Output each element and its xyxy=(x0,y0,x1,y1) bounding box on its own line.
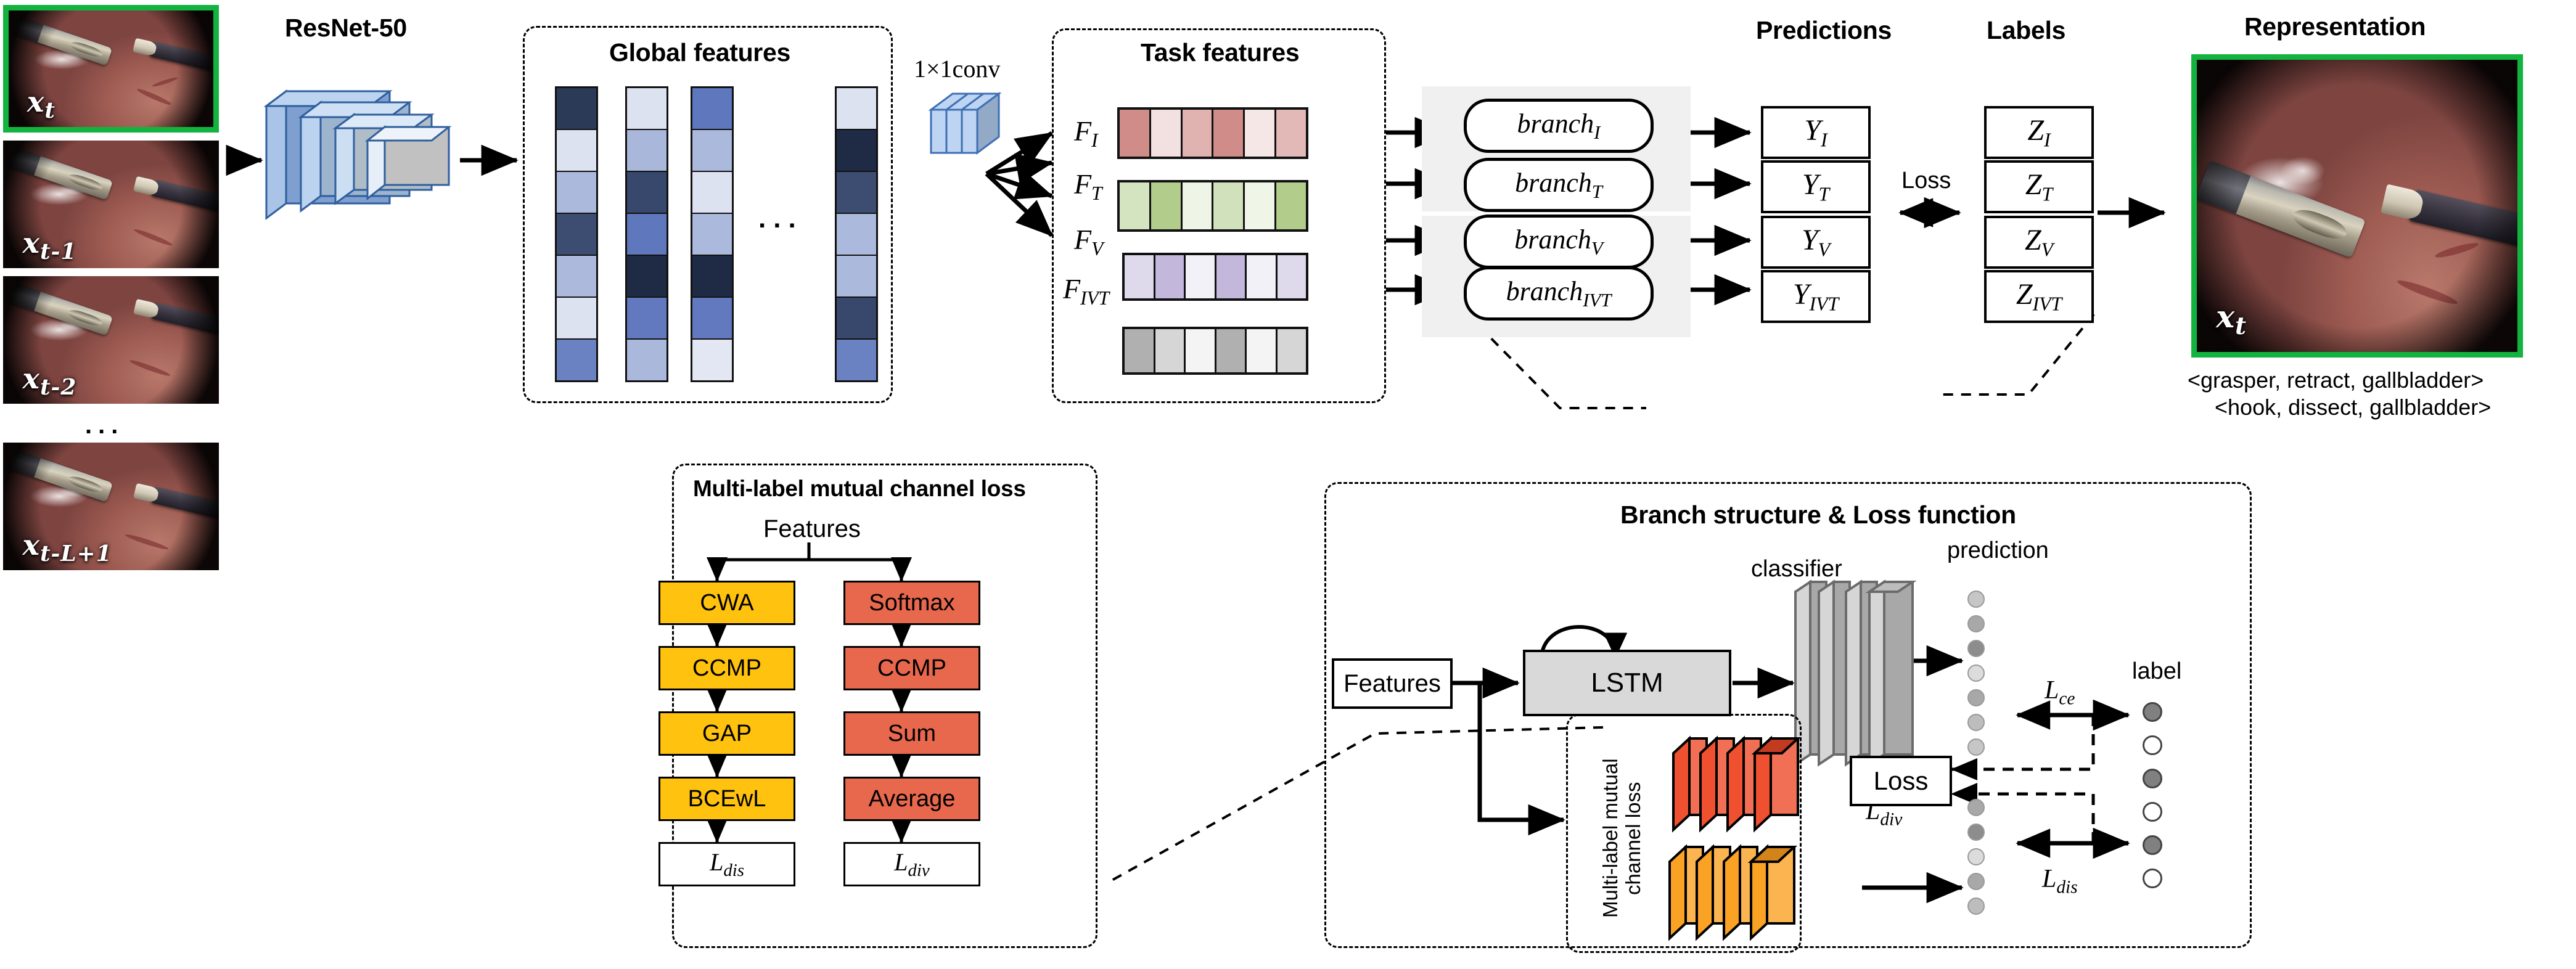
input-frame-xt-2[interactable]: xt-2 xyxy=(3,276,219,404)
input-frame-xt[interactable]: xt xyxy=(3,5,219,133)
task-feature-cell xyxy=(1213,182,1245,229)
mmcl-ldiv-output[interactable]: Ldiv xyxy=(843,842,980,886)
task-feature-cell xyxy=(1125,255,1155,298)
prediction-Y-IVT[interactable]: YIVT xyxy=(1761,270,1871,323)
label-Z-IVT[interactable]: ZIVT xyxy=(1984,270,2094,323)
frames-ellipsis: ... xyxy=(85,412,124,440)
global-feature-cell xyxy=(692,256,732,298)
branch-T[interactable]: branchT xyxy=(1464,158,1654,212)
prediction-dots-column[interactable] xyxy=(1962,587,1990,918)
branch-V[interactable]: branchV xyxy=(1464,215,1654,269)
global-feature-cell xyxy=(557,214,596,256)
prediction-dot xyxy=(1967,591,1985,608)
classifier-label: classifier xyxy=(1751,556,1842,583)
branch-loss-box[interactable]: Loss xyxy=(1850,756,1952,806)
triplet-line-2: <hook, dissect, gallbladder> xyxy=(2215,395,2491,420)
task-feature-cell xyxy=(1155,329,1186,372)
task-feature-cell xyxy=(1216,329,1247,372)
representation-title: Representation xyxy=(2244,12,2426,41)
task-feature-cell xyxy=(1276,110,1306,157)
prediction-dot xyxy=(1967,824,1985,841)
task-feature-cell xyxy=(1125,329,1155,372)
mmcl-average-box[interactable]: Average xyxy=(843,777,980,821)
global-feature-cell xyxy=(557,88,596,130)
representation-frame-label: xt xyxy=(2216,298,2247,340)
label-dot xyxy=(2143,702,2162,722)
label-dot xyxy=(2143,802,2162,822)
prediction-dot xyxy=(1967,714,1985,731)
task-feature-cell xyxy=(1183,110,1214,157)
global-feature-cell xyxy=(557,130,596,172)
task-feature-cell xyxy=(1151,110,1183,157)
global-feature-cell xyxy=(627,130,667,172)
mmcl-ccmp-right-box[interactable]: CCMP xyxy=(843,646,980,690)
mmcl-features-label: Features xyxy=(763,515,861,543)
task-feature-row-V[interactable] xyxy=(1122,253,1308,301)
label-Z-T[interactable]: ZT xyxy=(1984,160,2094,213)
mmcl-ldis-output[interactable]: Ldis xyxy=(658,842,795,886)
label-dots-column[interactable] xyxy=(2138,695,2167,895)
mmcl-gap-box[interactable]: GAP xyxy=(658,711,795,756)
global-feature-cell xyxy=(837,88,876,130)
global-feature-cell xyxy=(557,172,596,214)
task-feature-cell xyxy=(1278,329,1306,372)
task-feature-cell xyxy=(1151,182,1183,229)
task-feature-cell xyxy=(1216,255,1247,298)
global-feature-cell xyxy=(692,298,732,340)
global-features-ellipsis: ... xyxy=(758,203,803,234)
branch-structure-title: Branch structure & Loss function xyxy=(1620,501,2016,529)
task-feature-cell xyxy=(1247,329,1278,372)
mmcl-softmax-box[interactable]: Softmax xyxy=(843,581,980,625)
global-features-title: Global features xyxy=(609,38,790,67)
label-dot xyxy=(2143,769,2162,788)
global-feature-cell xyxy=(627,172,667,214)
label-dot xyxy=(2143,869,2162,888)
prediction-dot xyxy=(1967,897,1985,915)
label-dots-label: label xyxy=(2132,658,2181,685)
global-feature-cell xyxy=(837,130,876,172)
loss-term-lce: Lce xyxy=(2045,676,2075,709)
prediction-dot xyxy=(1967,848,1985,865)
global-feature-cell xyxy=(692,214,732,256)
frame-label: xt-1 xyxy=(23,226,77,264)
task-feature-label-IVT: FIVT xyxy=(1063,272,1109,309)
prediction-Y-I[interactable]: YI xyxy=(1761,106,1871,159)
task-feature-label-V: FV xyxy=(1074,223,1103,260)
task-features-title: Task features xyxy=(1141,38,1299,67)
conv-label: 1×1conv xyxy=(914,54,1000,83)
prediction-dot xyxy=(1967,738,1985,756)
global-feature-cell xyxy=(837,172,876,214)
resnet-slab-4 xyxy=(367,127,449,198)
prediction-dot xyxy=(1967,640,1985,657)
loss-term-ldis: Ldis xyxy=(2042,864,2078,897)
branch-mmcl-vertical-label: Multi-label mutual channel loss xyxy=(1599,746,1645,931)
prediction-Y-T[interactable]: YT xyxy=(1761,160,1871,213)
task-feature-cell xyxy=(1183,182,1214,229)
resnet-slab-2 xyxy=(301,102,409,211)
global-feature-column-2[interactable] xyxy=(625,86,668,382)
global-feature-cell xyxy=(557,298,596,340)
global-feature-column-1[interactable] xyxy=(555,86,598,382)
task-feature-cell xyxy=(1186,255,1216,298)
task-feature-row-I[interactable] xyxy=(1117,107,1308,159)
global-feature-cell xyxy=(627,298,667,340)
predictions-title: Predictions xyxy=(1756,16,1892,45)
task-feature-cell xyxy=(1120,110,1151,157)
task-feature-cell xyxy=(1245,182,1276,229)
branch-I[interactable]: branchI xyxy=(1464,99,1654,153)
global-feature-cell xyxy=(837,298,876,340)
global-feature-column-3[interactable] xyxy=(691,86,734,382)
mmcl-panel-title: Multi-label mutual channel loss xyxy=(693,476,1026,502)
prediction-dot xyxy=(1967,615,1985,632)
branch-features-box[interactable]: Features xyxy=(1332,658,1453,709)
conv-cube-icon xyxy=(931,94,999,153)
resnet-slab-1 xyxy=(266,91,390,218)
representation-frame[interactable]: xt xyxy=(2191,54,2523,358)
prediction-label: prediction xyxy=(1947,538,2049,564)
global-feature-cell xyxy=(837,256,876,298)
task-feature-cell xyxy=(1213,110,1245,157)
frame-label: xt xyxy=(27,85,55,123)
branch-IVT[interactable]: branchIVT xyxy=(1464,266,1654,321)
frame-label: xt-L+1 xyxy=(23,528,112,566)
global-feature-cell xyxy=(627,256,667,298)
global-feature-cell xyxy=(837,340,876,380)
labels-title: Labels xyxy=(1987,16,2065,45)
label-Z-I[interactable]: ZI xyxy=(1984,106,2094,159)
lstm-box[interactable]: LSTM xyxy=(1523,650,1731,716)
global-feature-cell xyxy=(692,172,732,214)
loss-label-main: Loss xyxy=(1901,168,1951,194)
mmcl-ccmp-left-box[interactable]: CCMP xyxy=(658,646,795,690)
mmcl-bcewl-box[interactable]: BCEwL xyxy=(658,777,795,821)
global-feature-cell xyxy=(837,214,876,256)
prediction-dot xyxy=(1967,873,1985,890)
prediction-dot xyxy=(1967,799,1985,816)
input-frame-xt-L1[interactable]: xt-L+1 xyxy=(3,443,219,570)
prediction-dot xyxy=(1967,689,1985,706)
label-dot xyxy=(2143,835,2162,855)
backbone-title: ResNet-50 xyxy=(285,14,407,43)
mmcl-cwa-box[interactable]: CWA xyxy=(658,581,795,625)
global-feature-cell xyxy=(692,130,732,172)
global-feature-cell xyxy=(692,340,732,380)
task-feature-cell xyxy=(1186,329,1216,372)
prediction-dot xyxy=(1967,664,1985,682)
mmcl-sum-box[interactable]: Sum xyxy=(843,711,980,756)
global-feature-cell xyxy=(627,88,667,130)
global-feature-cell xyxy=(692,88,732,130)
prediction-Y-V[interactable]: YV xyxy=(1761,216,1871,269)
resnet-slab-3 xyxy=(335,115,432,203)
global-feature-cell xyxy=(557,340,596,380)
task-feature-cell xyxy=(1278,255,1306,298)
triplet-line-1: <grasper, retract, gallbladder> xyxy=(2188,367,2484,393)
task-feature-cell xyxy=(1155,255,1186,298)
task-feature-cell xyxy=(1120,182,1151,229)
global-feature-cell xyxy=(627,340,667,380)
task-feature-label-T: FT xyxy=(1074,168,1102,205)
task-feature-cell xyxy=(1276,182,1306,229)
input-frame-xt-1[interactable]: xt-1 xyxy=(3,141,219,268)
task-feature-cell xyxy=(1245,110,1276,157)
global-feature-cell xyxy=(557,256,596,298)
label-Z-V[interactable]: ZV xyxy=(1984,216,2094,269)
task-feature-label-I: FI xyxy=(1074,115,1098,152)
task-feature-row-IVT[interactable] xyxy=(1122,327,1308,375)
label-dot xyxy=(2143,735,2162,755)
task-feature-row-T[interactable] xyxy=(1117,180,1308,232)
frame-label: xt-2 xyxy=(23,362,77,400)
global-feature-cell xyxy=(627,214,667,256)
global-feature-column-4[interactable] xyxy=(835,86,878,382)
task-feature-cell xyxy=(1247,255,1278,298)
